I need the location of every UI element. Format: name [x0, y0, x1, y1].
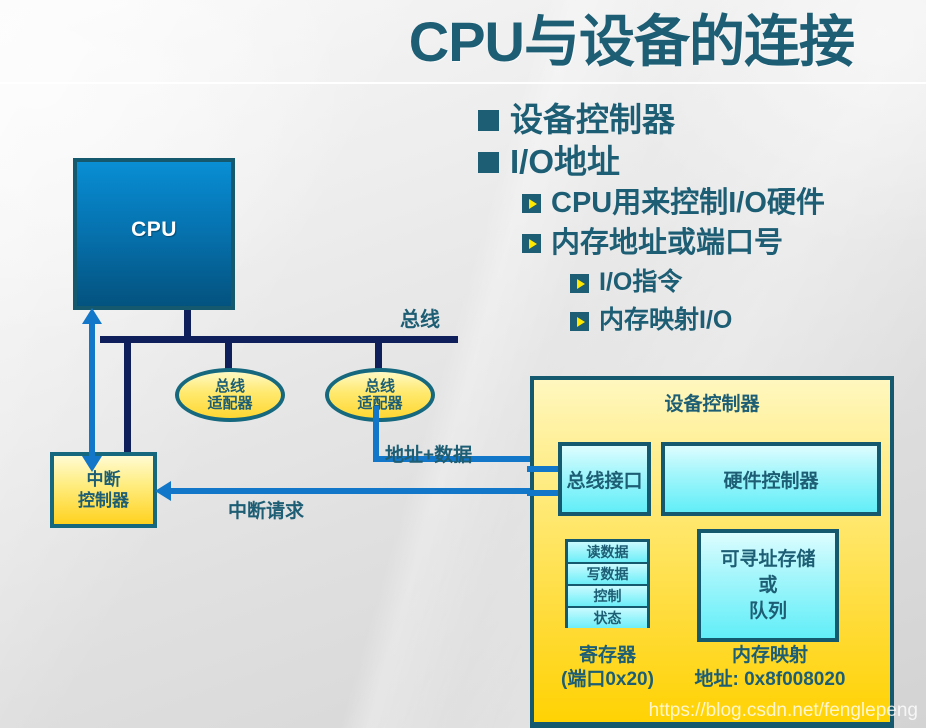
register-stack: 读数据 写数据 控制 状态: [565, 539, 650, 628]
bullet-label: I/O指令: [599, 264, 682, 300]
arrow-head-left-icon: [155, 481, 171, 501]
bus-interface-box: 总线接口: [558, 442, 651, 516]
bus-adapter-1: 总线 适配器: [175, 368, 285, 422]
bullet-label: I/O地址: [510, 142, 620, 182]
interrupt-controller-label-line1: 中断: [78, 469, 129, 490]
register-caption-line2: (端口0x20): [545, 668, 670, 692]
arrow-head-up-icon: [82, 308, 102, 324]
panel-bottom-edge: [530, 722, 894, 728]
bullet-item-memory-or-port: 内存地址或端口号: [522, 224, 926, 262]
adapter-label-line1: 总线: [357, 378, 402, 395]
bullet-item-io-instruction: I/O指令: [570, 264, 926, 300]
cpu-box: CPU: [73, 158, 235, 310]
address-data-label: 地址+数据: [385, 440, 472, 467]
triangle-bullet-icon: [522, 234, 541, 253]
adapter-label-line2: 适配器: [357, 395, 402, 412]
bullet-item-device-controller: 设备控制器: [478, 100, 926, 140]
bullet-label: 内存地址或端口号: [551, 224, 783, 262]
bullet-label: 设备控制器: [510, 100, 675, 140]
register-caption: 寄存器 (端口0x20): [545, 644, 670, 692]
adapter-label-line1: 总线: [207, 378, 252, 395]
bullet-item-cpu-controls-io: CPU用来控制I/O硬件: [522, 184, 926, 222]
addressable-storage-line2: 或: [720, 573, 815, 599]
cpu-label: CPU: [77, 218, 231, 242]
register-row: 写数据: [568, 564, 647, 584]
cpu-interrupt-arrow-shaft: [89, 322, 95, 464]
bus-label: 总线: [400, 303, 440, 332]
triangle-bullet-icon: [570, 312, 589, 331]
register-row: 控制: [568, 586, 647, 606]
page-title: CPU与设备的连接: [409, 6, 854, 78]
title-divider-rule: [0, 82, 926, 84]
register-row: 读数据: [568, 542, 647, 562]
square-bullet-icon: [478, 152, 499, 173]
irq-label: 中断请求: [228, 496, 304, 523]
triangle-bullet-icon: [570, 274, 589, 293]
device-controller-title: 设备控制器: [534, 389, 890, 416]
bullet-item-io-address: I/O地址: [478, 142, 926, 182]
interrupt-controller-label-line2: 控制器: [78, 490, 129, 511]
addressable-storage-line1: 可寻址存储: [720, 547, 815, 573]
adapter-label-line2: 适配器: [207, 395, 252, 412]
bullet-label: 内存映射I/O: [599, 302, 732, 338]
bus-interface-connector-1: [527, 466, 560, 472]
watermark: https://blog.csdn.net/fenglepeng: [649, 700, 918, 722]
bullet-item-memory-mapped-io: 内存映射I/O: [570, 302, 926, 338]
bus-interface-connector-2: [527, 490, 560, 496]
addressable-storage-line3: 队列: [720, 599, 815, 625]
bus-drop-cpu: [184, 310, 191, 338]
memory-map-caption: 内存映射 地址: 0x8f008020: [680, 644, 860, 692]
memory-map-caption-line2: 地址: 0x8f008020: [680, 668, 860, 692]
slide-canvas: CPU与设备的连接 设备控制器 I/O地址 CPU用来控制I/O硬件 内存地址或…: [0, 0, 926, 728]
bullet-list: 设备控制器 I/O地址 CPU用来控制I/O硬件 内存地址或端口号 I/O指令 …: [478, 100, 926, 340]
memory-map-caption-line1: 内存映射: [680, 644, 860, 668]
interrupt-controller-box: 中断 控制器: [50, 452, 157, 528]
triangle-bullet-icon: [522, 194, 541, 213]
arrow-head-down-icon: [82, 456, 102, 472]
address-data-line-vertical: [373, 406, 379, 462]
irq-line: [165, 488, 540, 494]
bus-line: [100, 336, 458, 343]
bullet-label: CPU用来控制I/O硬件: [551, 184, 825, 222]
bus-adapter-2: 总线 适配器: [325, 368, 435, 422]
register-row: 状态: [568, 608, 647, 628]
bus-drop-interrupt: [124, 340, 131, 452]
addressable-storage-box: 可寻址存储 或 队列: [697, 529, 839, 642]
square-bullet-icon: [478, 110, 499, 131]
register-caption-line1: 寄存器: [545, 644, 670, 668]
hardware-controller-box: 硬件控制器: [661, 442, 881, 516]
